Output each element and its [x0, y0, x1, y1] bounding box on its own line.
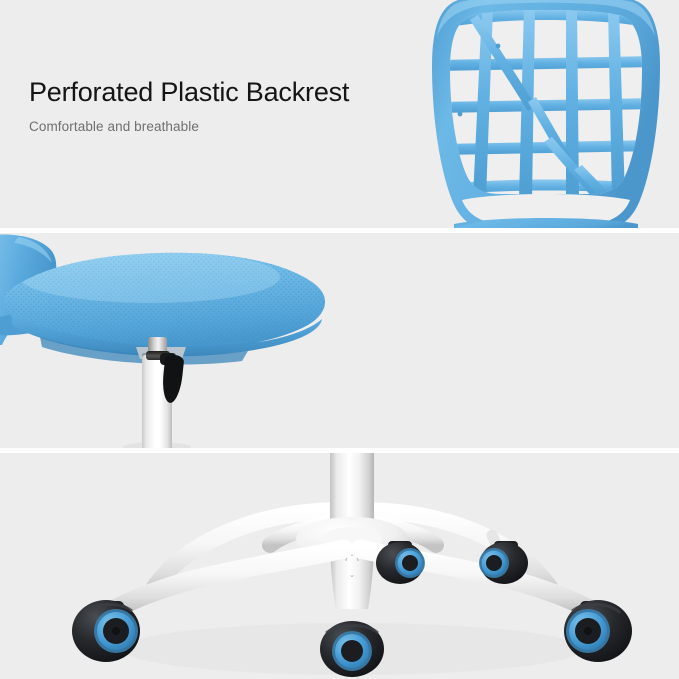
- panel-divider-1: [0, 228, 679, 233]
- caster-front-right: [564, 600, 632, 662]
- backrest-illustration: [424, 0, 668, 228]
- caster-front-center: [320, 621, 384, 677]
- panel-1-subtitle: Comfortable and breathable: [29, 119, 349, 135]
- panel-perforated-plastic-backrest: Perforated Plastic Backrest Comfortable …: [0, 0, 679, 228]
- caster-front-left: [72, 600, 140, 662]
- caster-rear-left: [376, 542, 425, 584]
- panel-heavy-duty-gas-cylinder: Heavy-duty Gas Cylinder Can bear 200 pou…: [0, 233, 679, 448]
- five-claw-base-illustration: ⌄: [0, 453, 679, 679]
- seat-and-cylinder-illustration: [0, 233, 679, 448]
- panel-5-claw-structure: ⌄: [0, 453, 679, 679]
- product-infographic: Perforated Plastic Backrest Comfortable …: [0, 0, 679, 679]
- panel-1-title: Perforated Plastic Backrest: [29, 78, 349, 108]
- panel-1-text-block: Perforated Plastic Backrest Comfortable …: [29, 78, 349, 135]
- panel-divider-2: [0, 448, 679, 453]
